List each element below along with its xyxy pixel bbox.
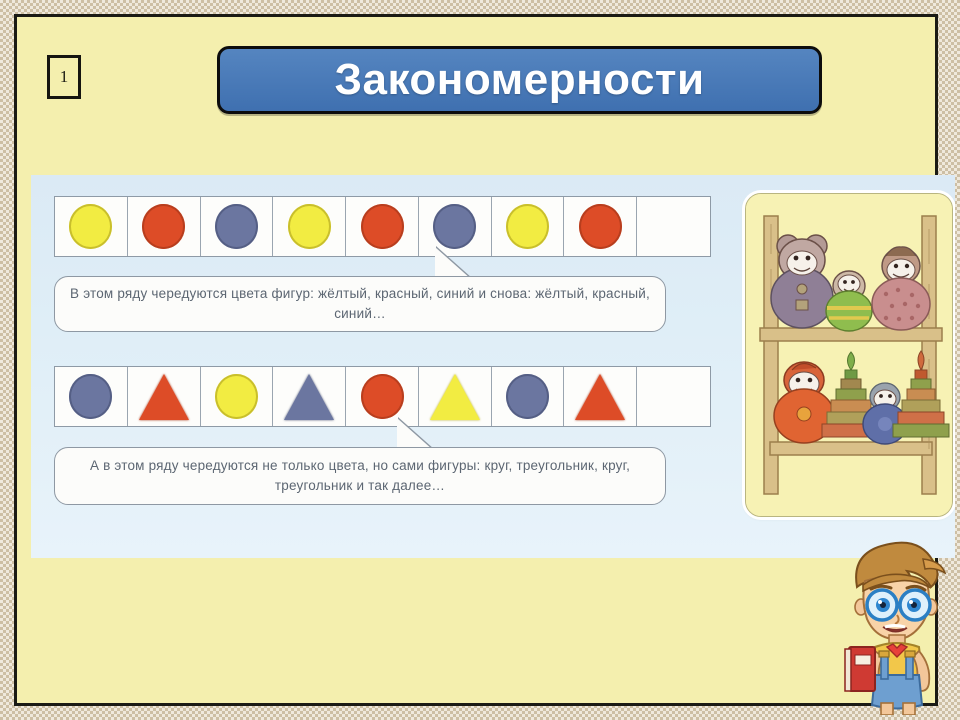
pattern-cell[interactable] [128, 197, 201, 256]
pattern-cell[interactable] [492, 197, 565, 256]
circle-blue-icon [215, 204, 258, 249]
pattern-row-1 [54, 196, 711, 257]
circle-blue-icon [69, 374, 112, 419]
pattern-cell[interactable] [564, 197, 637, 256]
pattern-cell[interactable] [201, 197, 274, 256]
pattern-cell[interactable] [564, 367, 637, 426]
triangle-blue-icon [284, 374, 334, 420]
caption-bubble-1: В этом ряду чередуются цвета фигур: жёлт… [54, 276, 666, 332]
slide-number-box: 1 [47, 55, 81, 99]
circle-yellow-icon [506, 204, 549, 249]
pattern-cell[interactable] [273, 367, 346, 426]
circle-red-icon [361, 374, 404, 419]
pattern-cell-empty[interactable] [637, 197, 710, 256]
pattern-cell-empty[interactable] [637, 367, 710, 426]
speech-pointer-2 [397, 418, 433, 450]
pattern-cell[interactable] [55, 197, 128, 256]
circle-blue-icon [433, 204, 476, 249]
pattern-row-2 [54, 366, 711, 427]
toy-shelf-svg [746, 194, 952, 516]
caption-text-1: В этом ряду чередуются цвета фигур: жёлт… [69, 284, 651, 323]
circle-yellow-icon [69, 204, 112, 249]
cartoon-boy-with-book [827, 535, 960, 715]
pattern-cell[interactable] [128, 367, 201, 426]
slide-canvas: 1 Закономерности В этом ряду чередуются … [0, 0, 960, 720]
boy-illustration-svg [827, 535, 960, 715]
circle-blue-icon [506, 374, 549, 419]
toy-shelf-illustration [745, 193, 953, 517]
pattern-cell[interactable] [346, 197, 419, 256]
circle-yellow-icon [288, 204, 331, 249]
triangle-red-icon [139, 374, 189, 420]
triangle-yellow-icon [430, 374, 480, 420]
pattern-cell[interactable] [55, 367, 128, 426]
circle-yellow-icon [215, 374, 258, 419]
caption-text-2: А в этом ряду чередуются не только цвета… [69, 456, 651, 495]
title-banner: Закономерности [217, 46, 822, 114]
triangle-red-icon [575, 374, 625, 420]
circle-red-icon [579, 204, 622, 249]
slide-number-label: 1 [60, 67, 69, 87]
pattern-cell[interactable] [273, 197, 346, 256]
slide-page: 1 Закономерности В этом ряду чередуются … [14, 14, 938, 706]
circle-red-icon [361, 204, 404, 249]
pattern-cell[interactable] [492, 367, 565, 426]
speech-pointer-1 [435, 247, 471, 279]
pattern-cell[interactable] [201, 367, 274, 426]
content-panel: В этом ряду чередуются цвета фигур: жёлт… [31, 175, 955, 558]
circle-red-icon [142, 204, 185, 249]
page-title: Закономерности [334, 55, 704, 105]
caption-bubble-2: А в этом ряду чередуются не только цвета… [54, 447, 666, 505]
